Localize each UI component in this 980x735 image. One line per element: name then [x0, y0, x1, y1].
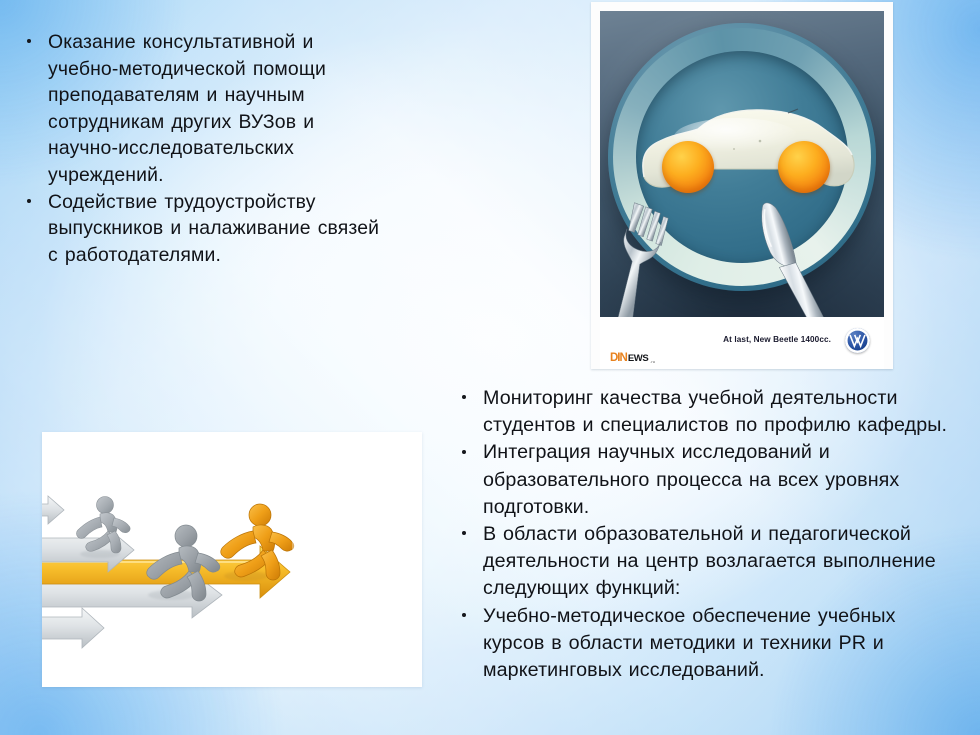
egg-yolk-wheel-left [662, 141, 714, 193]
bullet-text: Учебно-методическое обеспечение учебных … [483, 603, 953, 685]
list-item: Мониторинг качества учебной деятельности… [453, 385, 953, 439]
bullet-text: Оказание консультативной и учебно-методи… [48, 29, 388, 189]
publisher-logo-part3: .ru [650, 360, 655, 364]
bullet-text: В области образовательной и педагогическ… [483, 521, 953, 603]
fried-egg-car-photo [600, 11, 884, 317]
bullet-dot-icon [27, 39, 31, 43]
presentation-slide: Оказание консультативной и учебно-методи… [0, 0, 980, 735]
volkswagen-logo [845, 328, 870, 353]
bullet-dot-icon [462, 450, 466, 454]
publisher-logo: DIN EWS .ru [610, 353, 655, 364]
running-figures-on-arrows-illustration [42, 432, 422, 687]
bullet-dot-icon [462, 395, 466, 399]
egg-yolk-wheel-right [778, 141, 830, 193]
publisher-logo-part2: EWS [628, 354, 648, 364]
bullet-dot-icon [462, 613, 466, 617]
bullet-dot-icon [462, 531, 466, 535]
bullet-text: Содействие трудоустройству выпускников и… [48, 189, 388, 269]
volkswagen-beetle-egg-advertisement: At last, New Beetle 1400cc. DIN EWS .ru [591, 2, 893, 369]
list-item: Содействие трудоустройству выпускников и… [18, 189, 388, 269]
right-bullet-list: Мониторинг качества учебной деятельности… [453, 385, 953, 684]
list-item: Оказание консультативной и учебно-методи… [18, 29, 388, 189]
bullet-text: Интеграция научных исследований и образо… [483, 439, 953, 521]
list-item: В области образовательной и педагогическ… [453, 521, 953, 603]
bullet-dot-icon [27, 199, 31, 203]
left-bullet-list: Оказание консультативной и учебно-методи… [18, 29, 388, 268]
list-item: Учебно-методическое обеспечение учебных … [453, 603, 953, 685]
ad-tagline: At last, New Beetle 1400cc. [723, 335, 831, 344]
fried-egg-car-shape [638, 107, 858, 205]
publisher-logo-part1: DIN [610, 353, 627, 364]
advertisement-caption-bar: At last, New Beetle 1400cc. DIN EWS .ru [600, 317, 884, 369]
list-item: Интеграция научных исследований и образо… [453, 439, 953, 521]
bullet-text: Мониторинг качества учебной деятельности… [483, 385, 953, 439]
